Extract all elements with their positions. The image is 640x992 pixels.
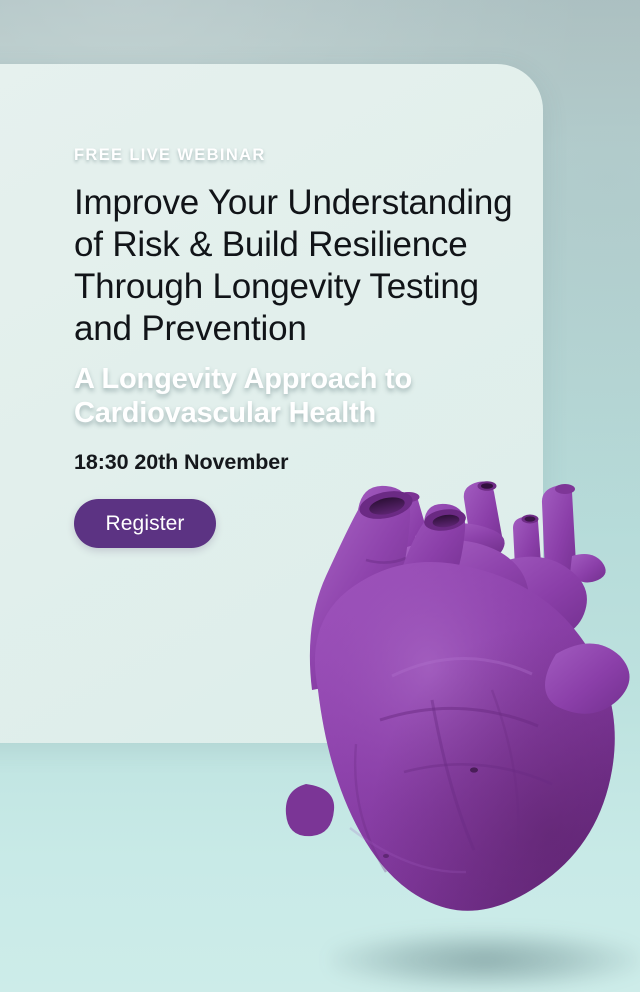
eyebrow-label: FREE LIVE WEBINAR — [74, 147, 544, 164]
page-title: Improve Your Understanding of Risk & Bui… — [74, 182, 519, 350]
event-datetime: 18:30 20th November — [74, 452, 544, 474]
card-content: FREE LIVE WEBINAR Improve Your Understan… — [74, 64, 544, 548]
register-button[interactable]: Register — [74, 499, 216, 548]
heart-floor-shadow — [330, 930, 640, 990]
webinar-poster: FREE LIVE WEBINAR Improve Your Understan… — [0, 0, 640, 992]
subtitle: A Longevity Approach to Cardiovascular H… — [74, 362, 474, 430]
